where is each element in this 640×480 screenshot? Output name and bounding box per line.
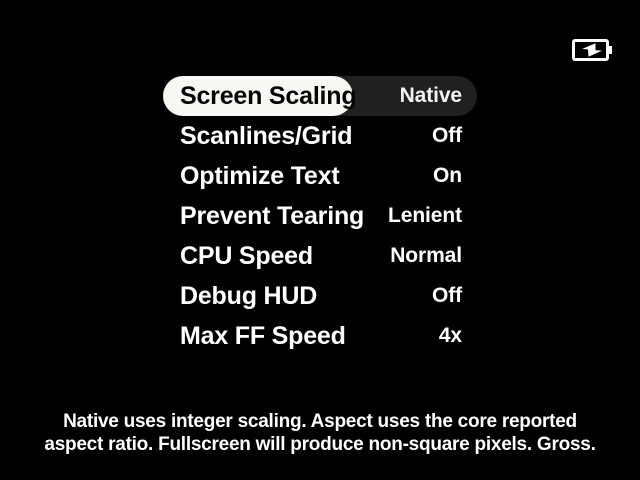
menu-row-optimize-text[interactable]: Optimize Text On [0, 156, 640, 196]
menu-row-prevent-tearing[interactable]: Prevent Tearing Lenient [0, 196, 640, 236]
menu-row-debug-hud[interactable]: Debug HUD Off [0, 276, 640, 316]
menu-row-cpu-speed[interactable]: CPU Speed Normal [0, 236, 640, 276]
menu-row-value[interactable]: Normal [240, 236, 462, 276]
settings-menu-list[interactable]: Screen Scaling Native Scanlines/Grid Off… [0, 76, 640, 356]
menu-row-value[interactable]: Native [240, 76, 462, 116]
menu-row-screen-scaling[interactable]: Screen Scaling Native [0, 76, 640, 116]
menu-row-value[interactable]: Off [240, 276, 462, 316]
menu-row-value[interactable]: 4x [240, 316, 462, 356]
help-text: Native uses integer scaling. Aspect uses… [0, 410, 640, 456]
menu-row-max-ff-speed[interactable]: Max FF Speed 4x [0, 316, 640, 356]
battery-charging-icon [572, 39, 612, 61]
help-text-line-2: aspect ratio. Fullscreen will produce no… [0, 433, 640, 456]
menu-row-value[interactable]: On [240, 156, 462, 196]
help-text-line-1: Native uses integer scaling. Aspect uses… [0, 410, 640, 433]
status-bar [0, 0, 640, 72]
menu-row-scanlines-grid[interactable]: Scanlines/Grid Off [0, 116, 640, 156]
settings-screen: Screen Scaling Native Scanlines/Grid Off… [0, 0, 640, 480]
menu-row-value[interactable]: Lenient [240, 196, 462, 236]
menu-row-value[interactable]: Off [240, 116, 462, 156]
